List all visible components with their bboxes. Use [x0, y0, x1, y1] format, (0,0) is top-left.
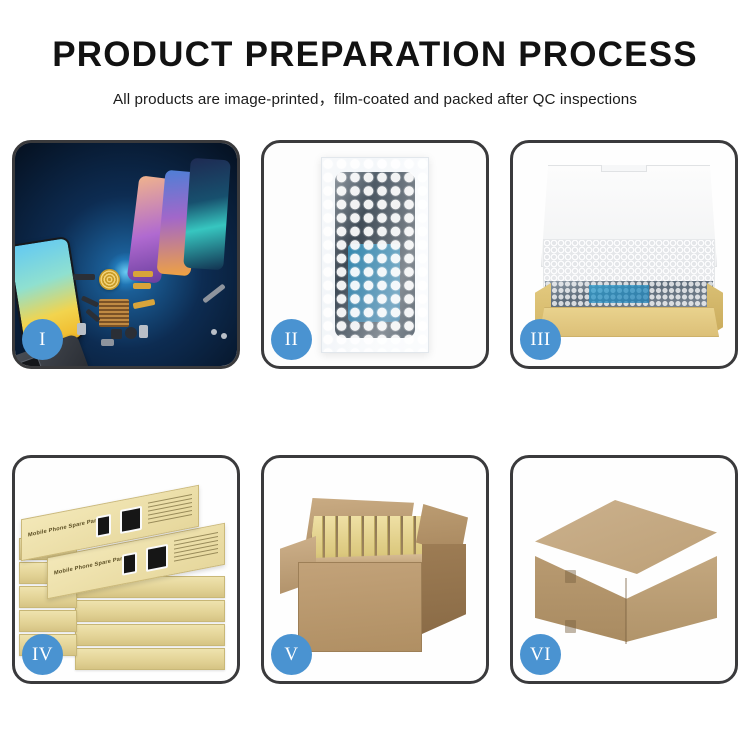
box-product-image	[120, 506, 142, 534]
connector-grid-chip	[99, 299, 129, 327]
spare-part	[211, 329, 217, 335]
main-phone-display	[15, 143, 73, 240]
spare-part	[133, 283, 151, 289]
mailer-front-panel	[539, 307, 719, 337]
bubble-wrap-bag	[321, 157, 429, 353]
step-panel-2: II	[261, 140, 489, 369]
page-title: PRODUCT PREPARATION PROCESS	[0, 36, 750, 75]
step-panel-4: Mobile Phone Spare Parts Mobile Phone Sp…	[12, 455, 240, 684]
plastic-sheen	[322, 158, 428, 352]
spare-part	[73, 274, 95, 280]
box-spec-lines	[174, 532, 218, 567]
step-badge-3: III	[520, 319, 561, 360]
process-steps-grid: I II	[12, 140, 738, 696]
carton-side-face	[422, 544, 466, 634]
step-panel-1: I	[12, 140, 240, 369]
step-panel-6: VI	[510, 455, 738, 684]
retail-box	[75, 648, 225, 670]
page-subtitle: All products are image-printed，film-coat…	[0, 87, 750, 109]
infographic-page: PRODUCT PREPARATION PROCESS All products…	[0, 0, 750, 750]
step-badge-2: II	[271, 319, 312, 360]
header: PRODUCT PREPARATION PROCESS All products…	[0, 0, 750, 109]
box-brand-label: Mobile Phone Spare Parts	[28, 517, 102, 539]
wireless-charging-coil	[99, 269, 120, 290]
spare-part	[125, 327, 137, 339]
wrapped-product-inside	[545, 281, 713, 309]
mailer-lid-tab	[601, 165, 647, 172]
foam-liner	[543, 239, 715, 287]
carton-corner-seam	[625, 578, 627, 644]
box-brand-label: Mobile Phone Spare Parts	[54, 555, 128, 577]
inner-bubble-pattern	[545, 281, 713, 309]
carton-left-face	[535, 556, 627, 642]
step-badge-1: I	[22, 319, 63, 360]
retail-box	[19, 610, 77, 632]
spare-part	[139, 325, 148, 338]
retail-box	[75, 600, 225, 622]
step-badge-4: IV	[22, 634, 63, 675]
step-panel-5: V	[261, 455, 489, 684]
phone-screen-gradient-3	[183, 158, 231, 271]
box-spec-lines	[148, 494, 192, 529]
step-panel-3: III	[510, 140, 738, 369]
box-product-image	[96, 514, 111, 538]
spare-part	[133, 271, 153, 277]
packing-tape	[535, 500, 717, 574]
spare-part	[101, 339, 114, 346]
step-badge-5: V	[271, 634, 312, 675]
retail-box	[75, 624, 225, 646]
spare-part	[111, 329, 122, 339]
box-product-image	[122, 552, 137, 576]
display-glass	[15, 143, 73, 240]
carton-front-face	[298, 562, 422, 652]
spare-part	[77, 323, 86, 335]
carton-handle-notch	[565, 620, 576, 633]
spare-part	[221, 333, 227, 339]
box-product-image	[146, 544, 168, 572]
carton-handle-notch	[565, 570, 576, 583]
step-badge-6: VI	[520, 634, 561, 675]
